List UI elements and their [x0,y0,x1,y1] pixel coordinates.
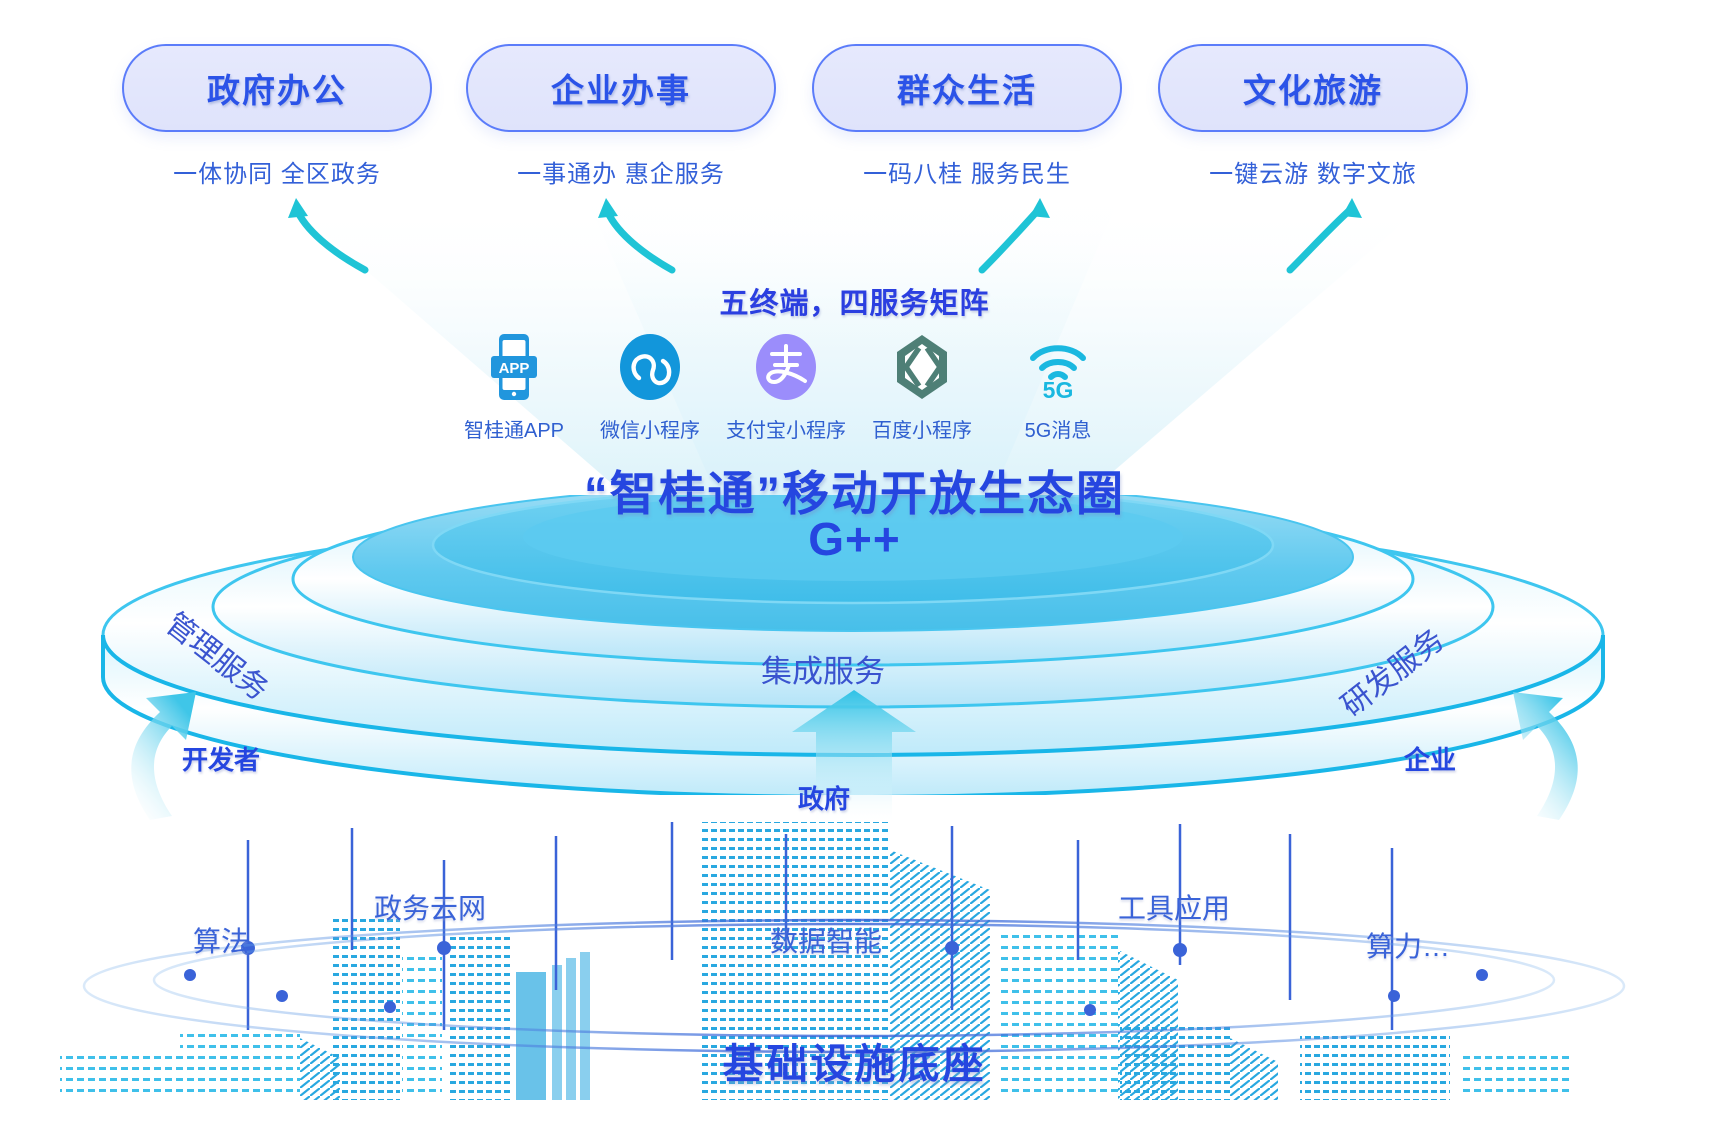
domain-pill-3[interactable]: 文化旅游 [1158,44,1468,132]
svg-text:APP: APP [499,360,530,377]
infra-label-3: 工具应用 [1118,887,1230,927]
platform-code-name: G++ [0,512,1709,566]
terminal-label-2: 支付宝小程序 [718,414,854,443]
curved-arrow-head-0 [288,198,308,218]
domain-subtitle-0: 一体协同 全区政务 [122,154,432,189]
terminal-label-0: 智桂通APP [446,414,582,443]
terminal-label-4: 5G消息 [990,414,1126,443]
service-label-center: 集成服务 [761,646,885,691]
svg-text:5G: 5G [1043,377,1074,402]
actor-label-right: 企业 [1404,740,1456,777]
terminal-item-1[interactable]: 微信小程序 [582,332,718,443]
domain-subtitle-3: 一键云游 数字文旅 [1158,154,1468,189]
curved-arrow-head-2 [1030,198,1050,218]
terminal-label-1: 微信小程序 [582,414,718,443]
domain-card-3[interactable]: 文化旅游 一键云游 数字文旅 [1158,44,1468,189]
curved-arrow-head-3 [1342,198,1362,218]
top-domain-row: 政府办公 一体协同 全区政务 企业办事 一事通办 惠企服务 群众生活 一码八桂 … [0,44,1709,204]
actor-arrow-right [1513,692,1578,820]
terminal-item-4[interactable]: 5G 5G消息 [990,332,1126,443]
curved-arrow-1 [606,208,672,270]
baidu-miniprogram-icon [854,332,990,402]
terminal-item-3[interactable]: 百度小程序 [854,332,990,443]
wechat-miniprogram-icon [582,332,718,402]
curved-arrow-head-1 [598,198,618,218]
domain-subtitle-1: 一事通办 惠企服务 [466,154,776,189]
alipay-miniprogram-icon [718,332,854,402]
curved-arrow-2 [982,208,1040,270]
5g-message-icon: 5G [990,332,1126,402]
domain-card-1[interactable]: 企业办事 一事通办 惠企服务 [466,44,776,189]
infra-label-1: 政务云网 [374,887,486,927]
domain-pill-label-0: 政府办公 [207,64,347,112]
domain-pill-label-2: 群众生活 [897,64,1037,112]
upward-curved-arrow-group [0,190,1709,280]
terminal-item-0[interactable]: APP 智桂通APP [446,332,582,443]
domain-pill-2[interactable]: 群众生活 [812,44,1122,132]
domain-card-2[interactable]: 群众生活 一码八桂 服务民生 [812,44,1122,189]
actor-label-left: 开发者 [182,740,260,777]
infra-label-2: 数据智能 [770,920,882,960]
diagram-canvas: 政府办公 一体协同 全区政务 企业办事 一事通办 惠企服务 群众生活 一码八桂 … [0,0,1709,1134]
domain-subtitle-2: 一码八桂 服务民生 [812,154,1122,189]
infra-label-4: 算力… [1366,925,1450,965]
curved-arrow-3 [1290,208,1352,270]
terminal-label-3: 百度小程序 [854,414,990,443]
domain-card-0[interactable]: 政府办公 一体协同 全区政务 [122,44,432,189]
terminal-item-2[interactable]: 支付宝小程序 [718,332,854,443]
terminal-icon-row: APP 智桂通APP 微信小程序 [446,332,1126,462]
domain-pill-1[interactable]: 企业办事 [466,44,776,132]
domain-pill-label-1: 企业办事 [551,64,691,112]
curved-arrow-0 [296,208,365,270]
actor-label-center: 政府 [798,779,850,816]
app-phone-icon: APP [446,332,582,402]
matrix-heading: 五终端，四服务矩阵 [0,280,1709,322]
infrastructure-title: 基础设施底座 [0,1030,1709,1090]
infra-label-0: 算法 [193,920,249,960]
domain-pill-0[interactable]: 政府办公 [122,44,432,132]
domain-pill-label-3: 文化旅游 [1243,64,1383,112]
